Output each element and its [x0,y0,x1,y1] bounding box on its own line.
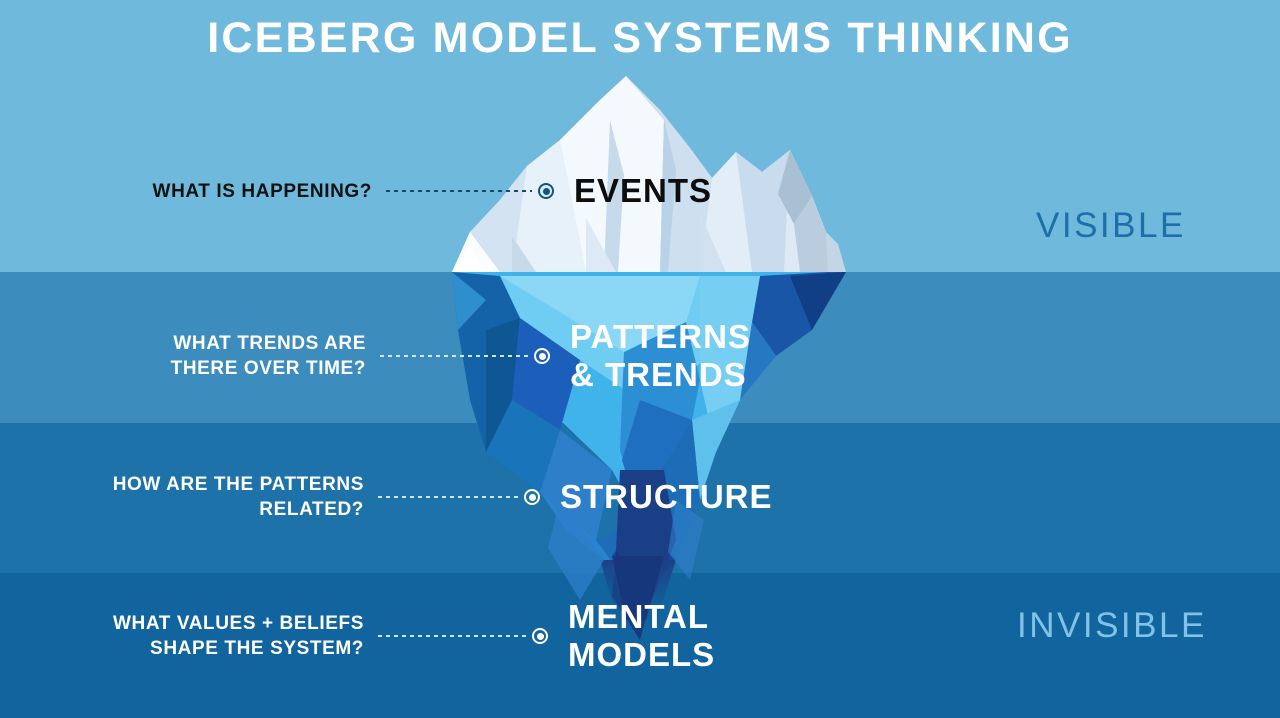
tier-row-patterns[interactable]: WHAT TRENDS ARE THERE OVER TIME? PATTERN… [144,318,751,394]
zone-label-visible: VISIBLE [1036,206,1186,246]
connector-dot-structure [524,489,540,505]
connector-line-patterns [380,355,528,357]
tier-question-mental-models: WHAT VALUES + BELIEFS SHAPE THE SYSTEM? [84,611,364,661]
tier-label-events: EVENTS [574,172,712,210]
connector-dot-patterns [534,348,550,364]
page-title: ICEBERG MODEL SYSTEMS THINKING [0,14,1280,63]
connector-line-mental-models [378,635,526,637]
tier-question-structure: HOW ARE THE PATTERNS RELATED? [82,472,364,522]
tier-row-mental-models[interactable]: WHAT VALUES + BELIEFS SHAPE THE SYSTEM? … [84,598,715,674]
connector-line-events [386,190,532,192]
tier-row-events[interactable]: WHAT IS HAPPENING? EVENTS [114,172,712,210]
tier-question-events: WHAT IS HAPPENING? [114,179,372,204]
connector-dot-events [538,183,554,199]
tier-label-structure: STRUCTURE [560,478,773,516]
tier-label-patterns: PATTERNS & TRENDS [570,318,751,394]
iceberg-model-infographic: ICEBERG MODEL SYSTEMS THINKING VISIBLE I… [0,0,1280,718]
tier-label-mental-models: MENTAL MODELS [568,598,715,674]
tier-question-patterns: WHAT TRENDS ARE THERE OVER TIME? [144,331,366,381]
tier-row-structure[interactable]: HOW ARE THE PATTERNS RELATED? STRUCTURE [82,472,773,522]
connector-line-structure [378,496,518,498]
connector-dot-mental-models [532,628,548,644]
zone-label-invisible: INVISIBLE [1017,606,1207,646]
